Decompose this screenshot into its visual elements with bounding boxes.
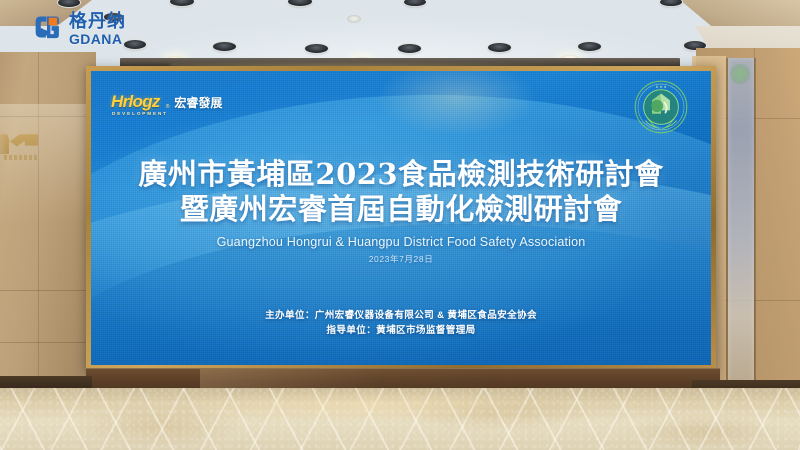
screen-title-line-1: 廣州市黃埔區2023食品檢測技術研討會 (109, 157, 693, 192)
screen-event-date: 2023年7月28日 (109, 253, 693, 265)
led-screen-frame: Hrlogz ® 宏睿發展 DEVELOPMENT (86, 66, 716, 370)
downlight-icon (170, 0, 194, 6)
downlight-icon (578, 42, 601, 51)
wall-brand-logo-subtext (4, 155, 38, 160)
brand-chinese-text: 宏睿發展 (174, 97, 222, 109)
wall-brand-logo-partial-icon (0, 132, 38, 154)
screen-title-line-2: 暨廣州宏睿首屆自動化檢測研討會 (109, 192, 693, 227)
watermark-english-text: GDANA (69, 32, 126, 46)
mirror-column (728, 58, 754, 388)
svg-text:★ ★ ★: ★ ★ ★ (655, 85, 666, 89)
registered-mark-icon: ® (166, 104, 170, 110)
downlight-icon (398, 44, 421, 53)
conference-room-photo: Hrlogz ® 宏睿發展 DEVELOPMENT (0, 0, 800, 450)
organizer-line: 主办单位：广州宏睿仪器设备有限公司 & 黄埔区食品安全协会 (91, 308, 711, 324)
screen-subtitle-english: Guangzhou Hongrui & Huangpu District Foo… (109, 235, 693, 249)
carpet-floor (0, 388, 800, 450)
downlight-icon (213, 42, 236, 51)
guidance-unit-line: 指导单位：黄埔区市场监督管理局 (91, 323, 711, 339)
gdana-logo-icon (30, 12, 64, 46)
left-wood-wall (0, 52, 96, 390)
screen-glare (376, 71, 537, 136)
led-screen: Hrlogz ® 宏睿發展 DEVELOPMENT (91, 71, 711, 365)
downlight-icon (288, 0, 312, 6)
downlight-icon (124, 40, 146, 49)
brand-subtitle-text: DEVELOPMENT (112, 111, 168, 116)
mirror-column-frame-right (754, 58, 756, 388)
gdana-watermark: 格丹纳 GDANA (30, 12, 126, 46)
screen-title-block: 廣州市黃埔區2023食品檢測技術研討會 暨廣州宏睿首屆自動化檢測研討會 Guan… (91, 157, 711, 265)
downlight-icon (348, 16, 360, 22)
watermark-chinese-text: 格丹纳 (69, 12, 126, 30)
downlight-icon (488, 43, 511, 52)
hongrui-brand-logo: Hrlogz ® 宏睿發展 (111, 93, 222, 110)
downlight-icon (404, 0, 426, 6)
downlight-icon (305, 44, 328, 53)
brand-mark-text: Hrlogz (111, 93, 160, 110)
screen-organizer-block: 主办单位：广州宏睿仪器设备有限公司 & 黄埔区食品安全协会 指导单位：黄埔区市场… (91, 308, 711, 339)
reflected-emblem-icon (730, 64, 750, 84)
food-safety-association-emblem-icon: ★ ★ ★ (633, 79, 689, 135)
downlight-icon (660, 0, 682, 6)
